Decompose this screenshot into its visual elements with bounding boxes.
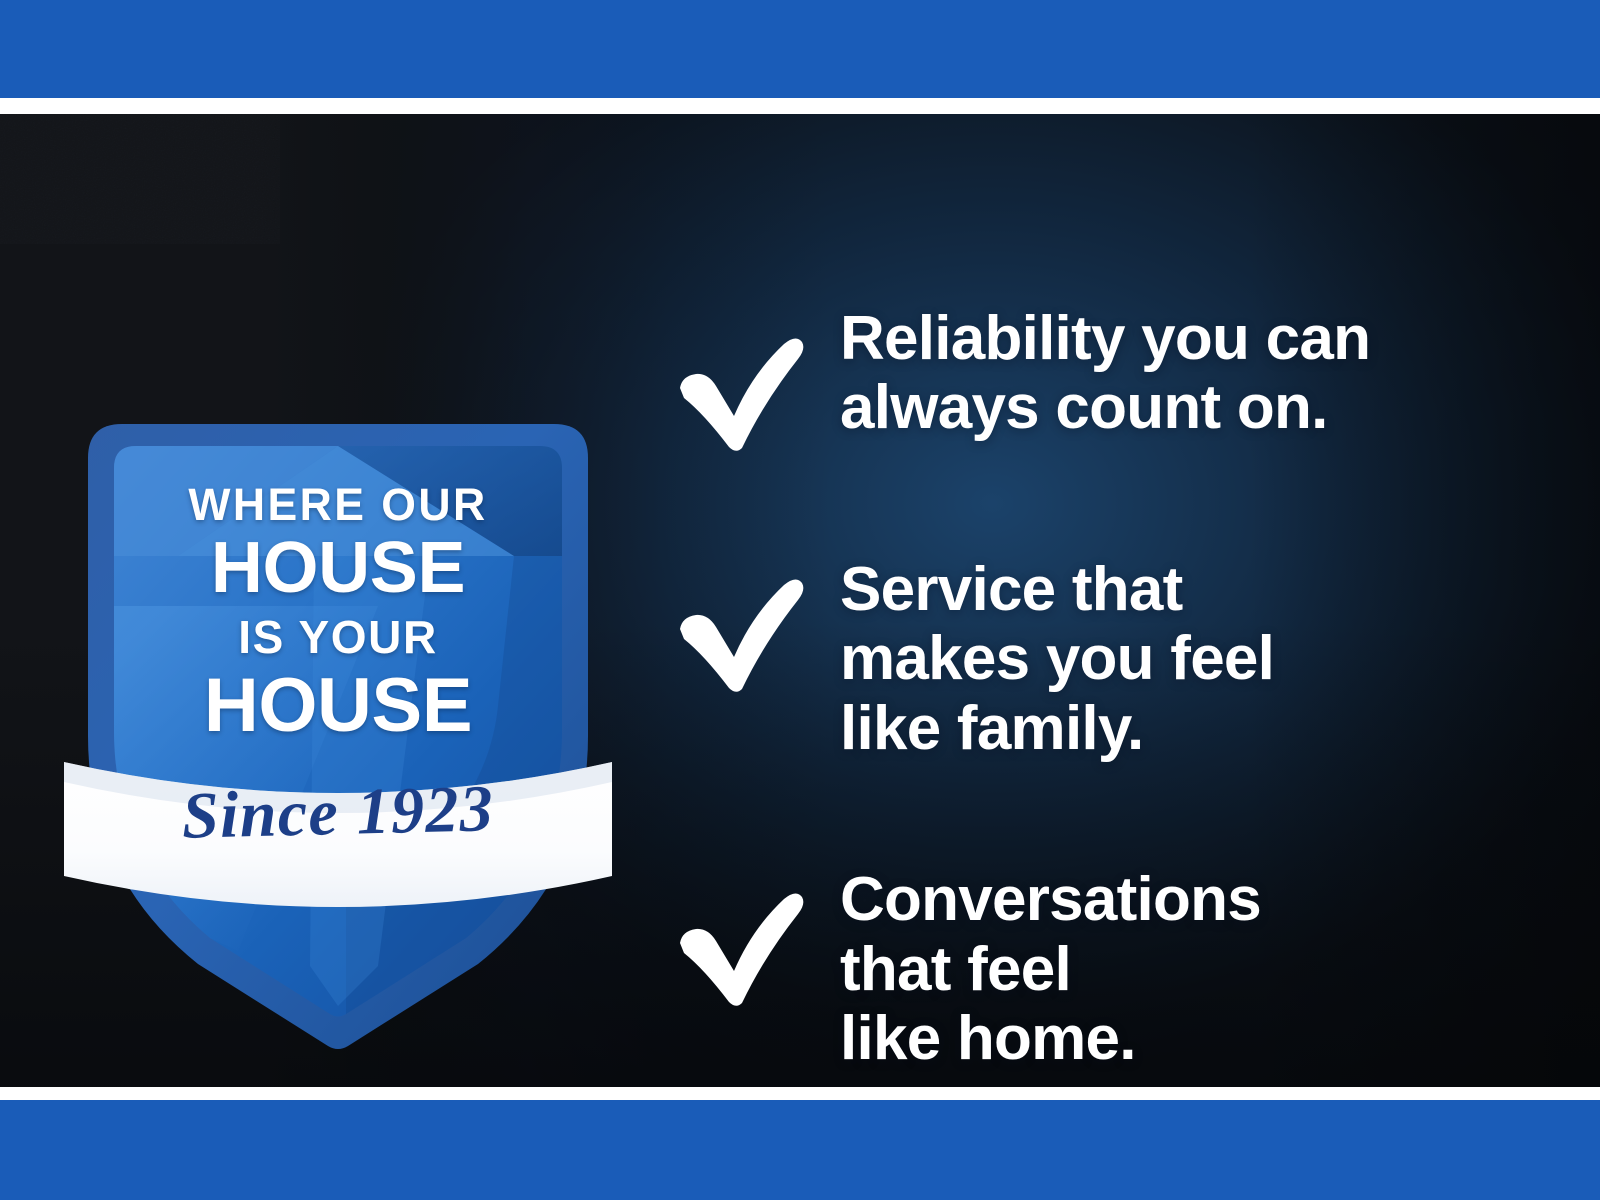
check-icon xyxy=(672,332,808,452)
shield-badge: WHERE OUR HOUSE IS YOUR HOUSE Since 1923 xyxy=(78,406,598,1046)
benefit-item: Reliability you can always count on. xyxy=(672,304,1532,443)
benefits-list: Reliability you can always count on. Ser… xyxy=(672,304,1532,1074)
benefit-text: Conversations that feel like home. xyxy=(840,865,1532,1073)
benefit-item: Service that makes you feel like family. xyxy=(672,555,1532,763)
benefit-item: Conversations that feel like home. xyxy=(672,865,1532,1073)
check-icon xyxy=(672,887,808,1007)
promo-poster: WHERE OUR HOUSE IS YOUR HOUSE Since 1923… xyxy=(0,0,1600,1200)
benefit-text: Service that makes you feel like family. xyxy=(840,555,1532,763)
check-icon xyxy=(672,573,808,693)
poster-canvas: WHERE OUR HOUSE IS YOUR HOUSE Since 1923… xyxy=(0,114,1600,1087)
top-brand-band xyxy=(0,0,1600,98)
benefit-text: Reliability you can always count on. xyxy=(840,304,1532,443)
bottom-brand-band xyxy=(0,1100,1600,1200)
